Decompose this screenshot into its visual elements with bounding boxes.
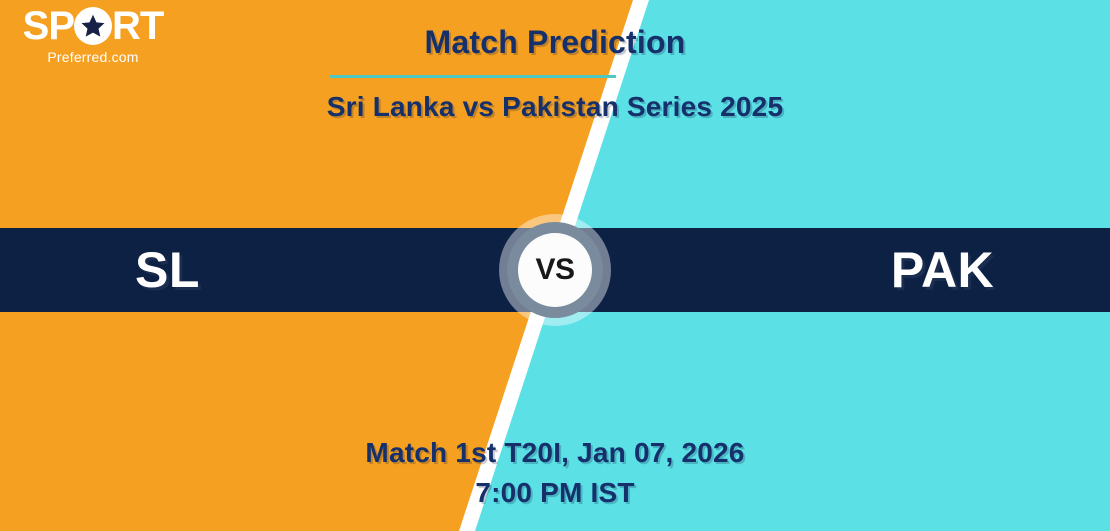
versus-badge-inner: VS — [518, 233, 592, 307]
versus-label: VS — [535, 253, 574, 287]
match-prediction-banner: SP RT Preferred.com Match Prediction Sri… — [0, 0, 1110, 531]
logo-tagline: Preferred.com — [18, 49, 168, 65]
match-time: 7:00 PM IST — [0, 477, 1110, 509]
match-details-block: Match 1st T20I, Jan 07, 2026 7:00 PM IST — [0, 437, 1110, 509]
match-detail-line: Match 1st T20I, Jan 07, 2026 — [0, 437, 1110, 469]
away-team-slot: PAK — [555, 241, 1110, 299]
logo-text-left: SP — [23, 6, 74, 46]
site-logo[interactable]: SP RT Preferred.com — [18, 6, 168, 65]
title-divider — [330, 75, 616, 78]
away-team-code: PAK — [891, 241, 994, 299]
series-subtitle: Sri Lanka vs Pakistan Series 2025 — [0, 91, 1110, 123]
logo-text-right: RT — [112, 6, 163, 46]
home-team-slot: SL — [0, 241, 555, 299]
versus-badge: VS — [507, 222, 603, 318]
home-team-code: SL — [135, 241, 200, 299]
star-icon — [74, 7, 112, 45]
logo-wordmark: SP RT — [18, 6, 168, 46]
